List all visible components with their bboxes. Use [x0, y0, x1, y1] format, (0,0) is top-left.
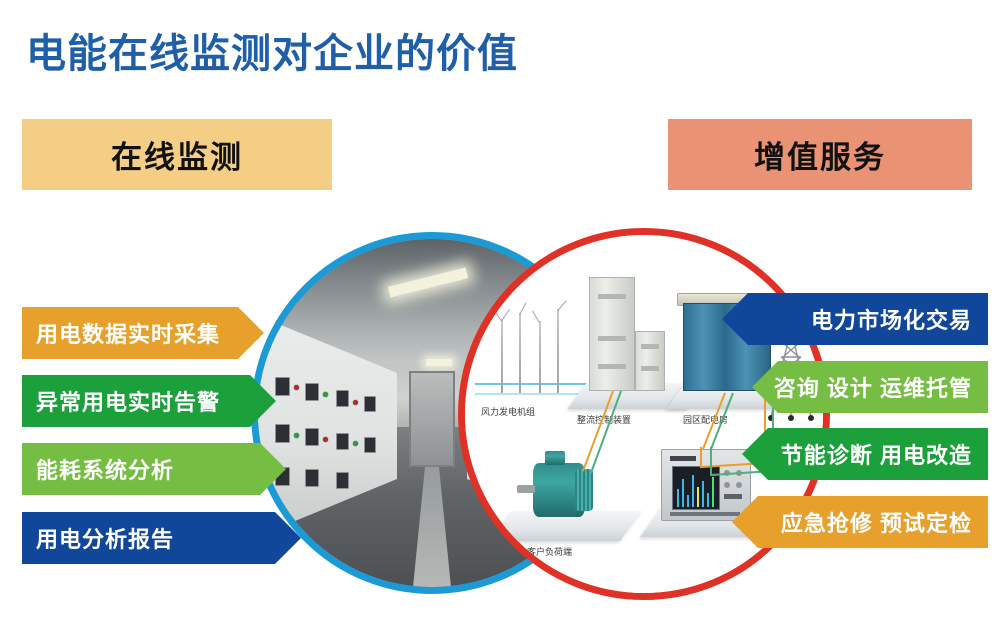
left-item-1[interactable]: 异常用电实时告警	[22, 375, 276, 427]
rectifier-cabinet-icon	[589, 277, 635, 391]
wind-turbine-icon	[487, 305, 577, 395]
left-item-2[interactable]: 能耗系统分析	[22, 443, 286, 495]
left-item-3[interactable]: 用电分析报告	[22, 512, 301, 564]
left-item-0[interactable]: 用电数据实时采集	[22, 307, 264, 359]
far-door	[409, 371, 455, 467]
section-banner-value-added-service: 增值服务	[668, 119, 972, 190]
left-item-1-label: 异常用电实时告警	[36, 385, 220, 417]
slide-canvas: 电能在线监测对企业的价值 在线监测 增值服务	[0, 0, 1008, 639]
right-item-3-label: 应急抢修 预试定检	[781, 506, 972, 538]
section-banner-online-monitoring: 在线监测	[22, 119, 332, 190]
diagram-label-wind: 风力发电机组	[481, 405, 535, 418]
meter-screen	[672, 466, 720, 510]
section-banner-left-label: 在线监测	[111, 132, 243, 177]
motor-shaft	[517, 485, 535, 493]
right-item-2[interactable]: 节能诊断 用电改造	[742, 428, 988, 480]
right-item-3[interactable]: 应急抢修 预试定检	[732, 496, 988, 548]
motor-cooling-fins	[575, 469, 593, 511]
right-item-1[interactable]: 咨询 设计 运维托管	[752, 361, 988, 413]
left-item-2-label: 能耗系统分析	[36, 453, 174, 485]
right-item-0-label: 电力市场化交易	[811, 303, 972, 335]
diagram-label-load: 客户负荷端	[527, 545, 572, 558]
power-monitoring-device-icon	[661, 449, 751, 521]
ceiling-lamp-icon	[426, 359, 452, 366]
section-banner-right-label: 增值服务	[754, 132, 886, 177]
diagram-label-substation: 园区配电房	[683, 413, 728, 426]
left-item-3-label: 用电分析报告	[36, 522, 174, 554]
rectifier-cabinet-small-icon	[635, 331, 665, 391]
page-title: 电能在线监测对企业的价值	[26, 30, 518, 78]
left-item-0-label: 用电数据实时采集	[36, 317, 220, 349]
right-item-0[interactable]: 电力市场化交易	[722, 293, 988, 345]
right-item-1-label: 咨询 设计 运维托管	[774, 371, 972, 403]
diagram-label-rectifier: 整流控制装置	[577, 413, 631, 426]
motor-terminal-box	[545, 451, 565, 465]
right-item-2-label: 节能诊断 用电改造	[781, 438, 972, 470]
